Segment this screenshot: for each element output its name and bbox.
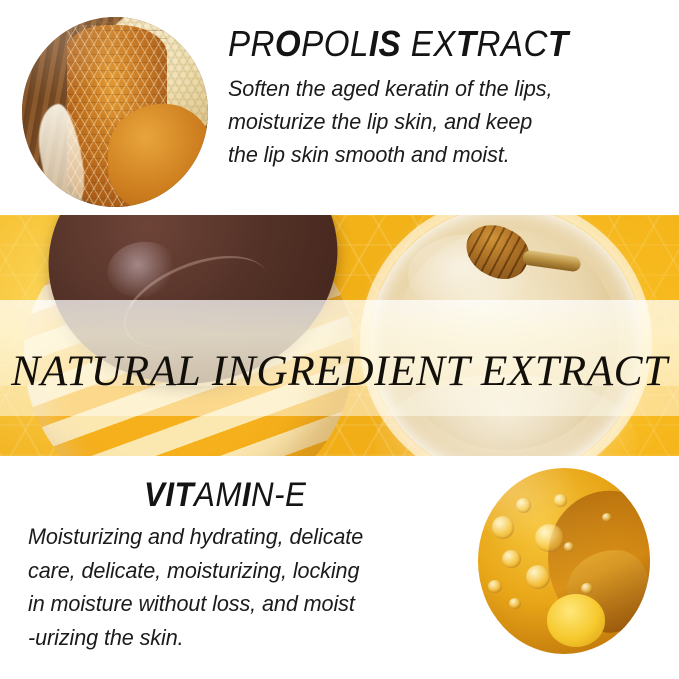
- headline-part: POL: [301, 23, 369, 64]
- large-oil-droplet: [547, 594, 605, 646]
- oil-bubble: [602, 513, 612, 522]
- headline-part: T: [174, 476, 194, 514]
- body-line: care, delicate, moisturizing, locking: [28, 554, 450, 588]
- oil-bubble: [526, 565, 550, 589]
- headline-part: EX: [401, 23, 456, 64]
- headline-part: T: [456, 23, 477, 64]
- oil-bubble: [502, 550, 521, 569]
- headline-part: VI: [144, 476, 174, 514]
- headline-part: T: [548, 23, 569, 64]
- propolis-copy-block: PROPOLIS EXTRACT Soften the aged keratin…: [228, 22, 664, 171]
- vitamin-copy-block: VITAMIN-E Moisturizing and hydrating, de…: [28, 474, 468, 654]
- vitamin-headline: VITAMIN-E: [144, 474, 442, 516]
- body-line: Moisturizing and hydrating, delicate: [28, 520, 450, 554]
- section-vitamin-e: VITAMIN-E Moisturizing and hydrating, de…: [0, 456, 679, 679]
- headline-part: -E: [274, 476, 306, 514]
- section-propolis-extract: PROPOLIS EXTRACT Soften the aged keratin…: [0, 0, 679, 215]
- body-line: in moisture without loss, and moist: [28, 587, 450, 621]
- headline-part: N: [251, 476, 274, 514]
- body-line: Soften the aged keratin of the lips,: [228, 72, 647, 105]
- vitamin-body-text: Moisturizing and hydrating, delicate car…: [28, 520, 450, 654]
- propolis-body-text: Soften the aged keratin of the lips, moi…: [228, 72, 647, 171]
- headline-part: RAC: [477, 23, 548, 64]
- body-line: moisturize the lip skin, and keep: [228, 105, 647, 138]
- headline-part: O: [275, 23, 301, 64]
- headline-part: I: [242, 476, 251, 514]
- image-sheen: [22, 17, 134, 99]
- headline-part: AM: [194, 476, 242, 514]
- headline-part: PR: [228, 23, 275, 64]
- body-line: the lip skin smooth and moist.: [228, 138, 647, 171]
- banner-title: NATURAL INGREDIENT EXTRACT: [0, 329, 679, 415]
- section-banner-natural-ingredient: Propolis Lip Mask NATURAL INGREDIENT EXT…: [0, 215, 679, 456]
- headline-part: IS: [369, 23, 401, 64]
- body-line: -urizing the skin.: [28, 621, 450, 655]
- product-infographic-page: PROPOLIS EXTRACT Soften the aged keratin…: [0, 0, 679, 679]
- honey-pool-shape: [108, 104, 208, 207]
- propolis-honeycomb-image: [22, 17, 208, 207]
- oil-bubble: [509, 598, 521, 609]
- oil-bubble: [564, 542, 574, 551]
- oil-bubble: [488, 580, 502, 593]
- vitamin-e-oil-image: [478, 468, 650, 654]
- propolis-headline: PROPOLIS EXTRACT: [228, 22, 629, 66]
